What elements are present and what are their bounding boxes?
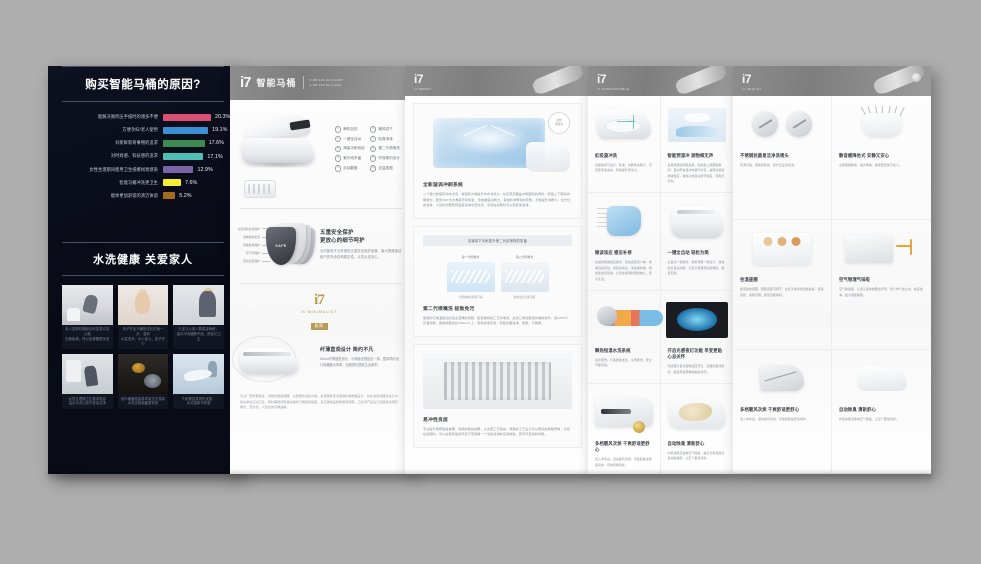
stainless-nozzle-icon <box>752 111 812 137</box>
temperature-dot <box>778 237 787 246</box>
feature-number: 1 <box>335 126 342 133</box>
chart-bar <box>163 114 211 121</box>
feature-figure <box>668 393 727 435</box>
product-overview-panel: i7 智能马桶 Z·DB 125-20-CJA005 Z·DB 125-50-C… <box>230 66 412 474</box>
feature-heading: 虹吸漩冲洗 <box>595 153 653 159</box>
feature-figure <box>839 105 924 147</box>
photo-caption: 纸巾细菌残留易导致交叉感染 水洗去除细菌更彻底 <box>118 394 169 409</box>
soft-close-seat-icon <box>862 113 902 137</box>
odor-filter-icon <box>669 397 725 429</box>
header-divider <box>303 76 304 89</box>
photo-graphic <box>118 354 169 394</box>
photo-tissue <box>173 354 224 394</box>
feature-label: 坐温座圈 <box>378 166 392 171</box>
temperature-dot <box>792 237 801 246</box>
feature-label: 除臭净味 <box>378 137 392 142</box>
product-header-title: 智能马桶 <box>257 76 297 89</box>
remote-control-illustration <box>244 180 276 198</box>
feature-heading: 多档暖风次烘 干爽舒适更舒心 <box>595 441 653 454</box>
feature-number: 5 <box>335 165 342 172</box>
chart-bar <box>163 192 175 199</box>
gen1-image <box>447 262 495 292</box>
chart-value-label: 17.6% <box>209 140 224 146</box>
card-body: 二个强力的旋转冲水水流，将强有力地提升冲水冲洗力，在实现高覆盖冲刷面积的同时，增… <box>423 192 572 209</box>
gen1-title: 第一代喷嘴洗 <box>447 255 495 259</box>
feature-figure <box>740 105 824 147</box>
feature-cell: 自动除臭 清新舒心内置净能活性炭空气除臭，让空气更加清新。 <box>832 350 931 474</box>
feature-heading: 自动除臭 清新舒心 <box>839 407 924 413</box>
photo-bacteria <box>118 354 169 394</box>
chart-row: 能解决厕所压手纸时的诸多不便20.3% <box>52 112 230 123</box>
feature-number: 7 <box>370 136 377 143</box>
brochure-stage: 购买智能马桶的原因? 能解决厕所压手纸时的诸多不便20.3%方便孕妇/老人使用1… <box>0 0 981 564</box>
photo-caption: 老人如厕时蹲起动作容易引发心脑 血管疾病，所以坐便器更安全 <box>62 325 113 345</box>
card-heading: 全新漩涡冲刷系统 <box>423 181 572 188</box>
nozzle-disc <box>752 111 778 137</box>
flush-badge: 全新 冲洗力 <box>548 112 570 134</box>
minimalist-logo-i7: i7 <box>236 293 402 308</box>
pipe-segment <box>910 239 912 255</box>
photo-card: 女性生理期卫生要求更高 温水冲洗比纸巾更加洁净 <box>62 354 113 409</box>
feature-cell: 静音缓降坐式 安静又安心全屏缓慢降落，减声降噪，静音更安静不扰人。 <box>832 96 931 220</box>
photo-elderly-bathroom <box>62 285 113 325</box>
water-path-vertical <box>633 115 634 129</box>
shield-callout-label: 漏电保护装置 <box>243 235 260 239</box>
feature-heading: 多档暖风次烘 干爽舒适更舒心 <box>740 407 824 413</box>
chart-row: 对时尚感、科技感的追求17.1% <box>52 151 230 162</box>
feature-list-item: 5自动翻盖 <box>335 165 365 172</box>
feature-figure <box>595 105 653 147</box>
health-panel: i7 i7 HEALTH 健康 不锈钢抗菌易洁净洗喷头有洗污垢，便捷易拆出，配方… <box>733 66 931 474</box>
dark-statistics-panel: 购买智能马桶的原因? 能解决厕所压手纸时的诸多不便20.3%方便孕妇/老人使用1… <box>48 66 238 474</box>
feature-body: 内置净能活性炭空气除臭，让空气更加清新。 <box>839 417 924 422</box>
lifestyle-photo-grid: 老人如厕时蹲起动作容易引发心脑 血管疾病，所以坐便器更安全孩子学坐马桶是成长的第… <box>48 276 238 410</box>
brand-logo-i7: i7 <box>414 73 432 85</box>
comparison-banner: 至臻除下冲刷提升第二代纹喷嘴的防菌 <box>423 235 572 246</box>
minimalist-subtitle-en: iS MINIMALIST <box>236 310 402 314</box>
feature-heading: 坐温座圈 <box>740 277 824 283</box>
feature-cell: 微波适应 感应补修先进的微波感应技术，自动感应到人体，喷嘴自动复位，并自动喷头，… <box>588 193 661 290</box>
hero-section: 1瞬热加热6暖风烘干2一键全自动7除臭净味3海量冲刷系统8第二代喷嘴洗4紫外线杀… <box>230 100 412 198</box>
feature-figure <box>595 300 653 342</box>
chart-bar-wrap: 19.1% <box>163 127 230 134</box>
feature-number-list: 1瞬热加热6暖风烘干2一键全自动7除臭净味3海量冲刷系统8第二代喷嘴洗4紫外线杀… <box>335 110 400 172</box>
feature-body: 采用智能感测温系统，在您坐上座圈的瞬间，自动开启自动内循环水温，减轻内置加热体温… <box>668 163 727 185</box>
feature-heading: 不锈钢抗菌易洁净洗喷头 <box>740 153 824 159</box>
feature-list-item: 10坐温座圈 <box>370 165 400 172</box>
feature-cell: 多档暖风次烘 干爽舒适更舒心温入冲水后，自动暖风次烘，带给肌肤最舒适呵护。 <box>733 350 832 474</box>
chart-bar <box>163 179 181 186</box>
feature-body: 温入冲水后，自动暖风次烘，带给肌肤最舒适呵护，有效舒畅得化。 <box>595 457 653 468</box>
chart-category-label: 方便孕妇/老人使用 <box>52 128 163 132</box>
comfort-panel: i7 i7 COMFORTABLE 舒适 虹吸漩冲洗虹吸静音与设计，私洗、冲刷洁… <box>588 66 733 474</box>
chart-bar <box>163 153 203 160</box>
nozzle-gen2: 第二代喷嘴洗 纳米镀层洁净无菌 <box>501 255 549 299</box>
minimalist-copy: 纤薄直观设计 简约不凡 52mm纤薄造型设计，与墙面无限贴合一体，整体简约设计风… <box>320 336 402 368</box>
health-body: 不锈钢抗菌易洁净洗喷头有洗污垢，便捷易拆出，配方又全自动洁。静音缓降坐式 安静又… <box>733 96 931 474</box>
chart-bar-wrap: 17.1% <box>163 153 230 160</box>
chart-category-label: 能解决厕所压手纸时的诸多不便 <box>52 115 163 119</box>
feature-heading: 一键全自动 轻松为简 <box>668 250 727 256</box>
toilet-body <box>242 138 314 164</box>
card-body: 使用的已电温度过的自主选择的特别，配合独特的工艺喷嘴洗，采用三重深层洁喷嘴的技术… <box>423 316 572 327</box>
minimalist-heading: 纤薄直观设计 简约不凡 <box>320 346 402 353</box>
feature-list-item: 3海量冲刷系统 <box>335 146 365 153</box>
photo-card: 干纸擦拭易损伤皮肤， 水洗温和不刺激 <box>173 354 224 409</box>
feature-body: 加温加热座圈，座圈温度可调节，在冬天洁净也温暖如春，舒适自然，多级可调，舒适温暖… <box>740 287 824 298</box>
card-heading: 易冲性良居 <box>423 416 572 423</box>
chart-bar-wrap: 20.3% <box>163 114 230 121</box>
feature-heading: 静音缓降坐式 安静又安心 <box>839 153 924 159</box>
minimalist-body: 52mm纤薄造型设计，与墙面无限贴合一体，整体简约设计风格融为简单，创造简约居家… <box>320 357 402 368</box>
header-swoosh-decoration <box>531 66 585 96</box>
chart-row: 女性生理期间使用卫生纸擦拭易感染12.9% <box>52 164 230 175</box>
feature-cell: 开启光感夜灯功能 早变更贴心总关怀光感夜灯自动智能感应开孔，温馨的夜间模式，结合… <box>661 291 734 384</box>
auto-toilet-icon <box>671 206 723 238</box>
photo-caption: 久坐办公室人群易患痔疮， 温水冲洗缓解不适，舒适又卫生 <box>173 325 224 345</box>
feature-body: 空气除臭器，让多元素的物理去异管，将气中气化之水，充实洁净，最大彻底除菌。 <box>839 287 924 298</box>
feature-cell: 空气物理气味吸空气除臭器，让多元素的物理去异管，将气中气化之水，充实洁净，最大彻… <box>832 220 931 350</box>
photo-office-worker <box>173 285 224 325</box>
feature-label: 第二代喷嘴洗 <box>378 146 400 151</box>
feature-figure <box>740 229 824 271</box>
chart-bar-wrap: 7.6% <box>163 179 230 186</box>
grid-filter-figure <box>423 353 572 409</box>
feature-list-item: 1瞬热加热 <box>335 126 365 133</box>
feature-body: 活水即洗，打造健康洁生，冷洗即洗，安全节能舒适。 <box>595 358 653 369</box>
safety-heading-1: 五重安全保护 <box>320 229 402 237</box>
chart-row: 方便孕妇/老人使用19.1% <box>52 125 230 136</box>
gen2-title: 第二代喷嘴洗 <box>501 255 549 259</box>
air-pipe-icon <box>896 239 918 257</box>
chart-bar <box>163 166 193 173</box>
system-panel: i7 i7 SMART 科技 全新 冲洗力 全新漩涡冲刷系统 二个强力的旋转冲水… <box>405 66 590 474</box>
chart-row: 对新鲜新奇事物的追求17.6% <box>52 138 230 149</box>
feature-heading: 开启光感夜灯功能 早变更贴心总关怀 <box>668 348 727 361</box>
page-title: 购买智能马桶的原因? <box>48 67 238 101</box>
feature-label: 紫外线杀菌 <box>343 156 361 161</box>
feature-heading: 智能预温冲 润物细无声 <box>668 153 727 159</box>
photo-caption: 干纸擦拭易损伤皮肤， 水洗温和不刺激 <box>173 394 224 409</box>
header-sphere-decoration <box>912 73 921 82</box>
health-header: i7 i7 HEALTH 健康 <box>733 66 931 96</box>
shield-callout-label: 防干烧保护 <box>246 251 260 255</box>
feature-label: 暖风烘干 <box>378 127 392 132</box>
safety-section: 全自动防过热保护漏电保护装置防触漏电保护防干烧保护自动温度保护 SAFE 五重安… <box>230 209 412 273</box>
feature-figure <box>740 359 824 401</box>
minimalist-logo-block: i7 iS MINIMALIST 极简 <box>236 289 402 334</box>
comfort-body: 虹吸漩冲洗虹吸静音与设计，私洗、冲刷洁净能力，可实现清洁洁净，有效提升舒适力。智… <box>588 96 733 474</box>
feature-number: 9 <box>370 155 377 162</box>
gen2-caption: 纳米镀层洁净无菌 <box>501 295 549 299</box>
photo-graphic <box>62 354 113 394</box>
feature-number: 10 <box>370 165 377 172</box>
chart-category-label: 女性生理期间使用卫生纸擦拭易感染 <box>52 167 163 171</box>
photo-cleaning <box>62 354 113 394</box>
toilet-illustration <box>242 118 316 164</box>
nozzle-gen1: 第一代喷嘴洗 普通喷嘴易积累污垢 <box>447 255 495 299</box>
temperature-dot <box>764 237 773 246</box>
gen2-image <box>501 262 549 292</box>
brochure-drop-shadow <box>48 472 932 482</box>
toilet-shadow <box>244 162 314 168</box>
model-codes: Z·DB 125-20-CJA005 Z·DB 125-50-CJA40 <box>310 78 343 88</box>
water-jet-right <box>490 125 515 137</box>
feature-cell: 智能预温冲 润物细无声采用智能感测温系统，在您坐上座圈的瞬间，自动开启自动内循环… <box>661 96 734 193</box>
photo-caption: 孩子学坐马桶是成长的第一步，温和 水温洗净，大人放心、孩子开心 <box>118 325 169 350</box>
compact-odor-icon <box>857 367 907 391</box>
shield-callout-label: 全自动防过热保护 <box>238 227 260 231</box>
chart-value-label: 19.1% <box>212 127 227 133</box>
comfort-feature-grid: 虹吸漩冲洗虹吸静音与设计，私洗、冲刷洁净能力，可实现清洁洁净，有效提升舒适力。智… <box>588 96 733 474</box>
system-header: i7 i7 SMART 科技 <box>405 66 590 96</box>
feature-heading: 空气物理气味吸 <box>839 277 924 283</box>
feature-list-item: 2一键全自动 <box>335 136 365 143</box>
shield-callout-labels: 全自动防过热保护漏电保护装置防触漏电保护防干烧保护自动温度保护 <box>236 227 270 268</box>
feature-figure <box>668 202 727 244</box>
chart-bar-wrap: 12.9% <box>163 166 230 173</box>
shield-illustration: 全自动防过热保护漏电保护装置防触漏电保护防干烧保护自动温度保护 SAFE <box>236 219 316 273</box>
warm-air-orb-icon <box>633 421 645 433</box>
feature-body: 全屏缓慢降落，减声降噪，静音更安静不扰人。 <box>839 163 924 168</box>
feature-cell: 不锈钢抗菌易洁净洗喷头有洗污垢，便捷易拆出，配方又全自动洁。 <box>733 96 832 220</box>
safety-copy: 五重安全保护 更放心的细节呵护 为内部电子元件提供五重安全保护装置，最大限度保证… <box>316 219 402 261</box>
photo-card: 纸巾细菌残留易导致交叉感染 水洗去除细菌更彻底 <box>118 354 169 409</box>
photo-graphic <box>118 285 169 325</box>
reasons-bar-chart: 能解决厕所压手纸时的诸多不便20.3%方便孕妇/老人使用19.1%对新鲜新奇事物… <box>48 102 238 208</box>
photo-graphic <box>62 285 113 325</box>
nozzle-disc <box>786 111 812 137</box>
feature-body: 先进的微波感应技术，自动感应到人体，喷嘴自动复位，并自动喷头，洁净保护器，增加您… <box>595 260 653 282</box>
feature-list-item: 4紫外线杀菌 <box>335 155 365 162</box>
shield-callout: 全自动防过热保护 <box>236 227 270 231</box>
chart-bar-wrap: 17.6% <box>163 140 230 147</box>
feature-body: 有洗污垢，便捷易拆出，配方又全自动洁。 <box>740 163 824 168</box>
feature-label: 海量冲刷系统 <box>343 146 365 151</box>
product-footer-note: 专业厂家质量保证，传统智能座便器，以座便式洁身沐浴。采用国际安全等级标准电路设计… <box>230 380 412 411</box>
photo-graphic <box>173 285 224 325</box>
heater-disc-icon <box>597 306 617 326</box>
safety-heading-2: 更放心的细节呵护 <box>320 237 402 245</box>
gen1-caption: 普通喷嘴易积累污垢 <box>447 295 495 299</box>
shield-callout: 自动温度保护 <box>236 259 270 263</box>
header-swoosh-decoration <box>674 66 728 96</box>
chart-category-label: 智能马桶冲洗更卫生 <box>52 181 163 185</box>
minimalist-toilet <box>240 348 298 374</box>
temperature-indicator-dots <box>764 237 801 246</box>
feature-list-item: 9环保简约设计 <box>370 155 400 162</box>
chart-row: 智能马桶冲洗更卫生7.6% <box>52 177 230 188</box>
dryer-icon <box>595 397 653 427</box>
feature-cell: 自动除臭 清新舒心内置净能活性炭空气除臭，臭氧分析运用过自动除臭能，让空气更加清… <box>661 384 734 474</box>
water-jet-left <box>463 125 488 137</box>
chart-category-label: 对新鲜新奇事物的追求 <box>52 141 163 145</box>
feature-figure <box>595 202 653 244</box>
feature-body: 内置净能活性炭空气除臭，臭氧分析运用过自动除臭能，让空气更加清新。 <box>668 451 727 462</box>
brand-subtitle-en: i7 SMART <box>414 87 432 91</box>
photo-card: 久坐办公室人群易患痔疮， 温水冲洗缓解不适，舒适又卫生 <box>173 285 224 350</box>
feature-body: 温入冲水后，自动暖风次烘，带给肌肤最舒适呵护。 <box>740 417 824 422</box>
control-panel-icon <box>668 108 726 142</box>
air-module-icon <box>845 235 893 263</box>
seat-cutaway-icon <box>597 109 651 139</box>
minimalist-section: i7 iS MINIMALIST 极简 纤薄直观设计 简约不凡 52mm纤薄造型… <box>230 283 412 380</box>
shield-callout: 防干烧保护 <box>236 251 270 255</box>
card-nozzle-comparison: 至臻除下冲刷提升第二代纹喷嘴的防菌 第一代喷嘴洗 普通喷嘴易积累污垢 第二代喷嘴… <box>413 226 582 337</box>
feature-label: 瞬热加热 <box>343 127 357 132</box>
shield-callout-label: 自动温度保护 <box>243 259 260 263</box>
feature-figure <box>668 105 727 147</box>
seat-ghost <box>526 142 570 172</box>
minimalist-badge: 极简 <box>311 323 328 330</box>
card-flush-system: 全新 冲洗力 全新漩涡冲刷系统 二个强力的旋转冲水水流，将强有力地提升冲水冲洗力… <box>413 103 582 219</box>
nozzle-comparison-figure: 第一代喷嘴洗 普通喷嘴易积累污垢 第二代喷嘴洗 纳米镀层洁净无菌 <box>423 251 572 305</box>
feature-figure <box>839 359 924 401</box>
brand-subtitle-en: i7 HEALTH <box>742 87 761 91</box>
feature-label: 一键全自动 <box>343 137 361 142</box>
feature-body: 全自动一键操作，轻松智能一键设计，快速的全自动冲洗，让您享受更舒适的便捷，轻易无… <box>668 260 727 276</box>
photo-baby-bath <box>118 285 169 325</box>
shield-badge-label: SAFE <box>275 244 286 248</box>
feature-cell: 瞬热恒温水洗系统活水即洗，打造健康洁生，冷洗即洗，安全节能舒适。 <box>588 291 661 384</box>
brand-subtitle-en: i7 COMFORTABLE <box>597 87 630 91</box>
card-deodorize: 易冲性良居 专业提升厕所除臭效果，持续的除臭效果，从这里工艺除臭，特殊的工艺设计… <box>413 344 582 448</box>
feature-list-item: 8第二代喷嘴洗 <box>370 146 400 153</box>
feature-list-item: 7除臭净味 <box>370 136 400 143</box>
health-feature-grid: 不锈钢抗菌易洁净洗喷头有洗污垢，便捷易拆出，配方又全自动洁。静音缓降坐式 安静又… <box>733 96 931 474</box>
chart-row: 能体更加舒适的清洁体验5.2% <box>52 191 230 202</box>
chart-value-label: 7.6% <box>185 180 197 186</box>
feature-cell: 多档暖风次烘 干爽舒适更舒心温入冲水后，自动暖风次烘，带给肌肤最舒适呵护，有效舒… <box>588 384 661 474</box>
card-body: 专业提升厕所除臭效果，持续的除臭效果，从这里工艺除臭，特殊的工艺设计可以更好的排… <box>423 427 572 438</box>
chart-bar-wrap: 5.2% <box>163 192 230 199</box>
photo-card: 孩子学坐马桶是成长的第一步，温和 水温洗净，大人放心、孩子开心 <box>118 285 169 350</box>
feature-number: 4 <box>335 155 342 162</box>
brand-logo-i7: i7 <box>742 73 761 85</box>
feature-cell: 虹吸漩冲洗虹吸静音与设计，私洗、冲刷洁净能力，可实现清洁洁净，有效提升舒适力。 <box>588 96 661 193</box>
photo-caption: 女性生理期卫生要求更高 温水冲洗比纸巾更加洁净 <box>62 394 113 409</box>
feature-number: 8 <box>370 146 377 153</box>
feature-number: 3 <box>335 146 342 153</box>
brand-logo-i7: i7 <box>597 73 630 85</box>
comfort-header: i7 i7 COMFORTABLE 舒适 <box>588 66 733 96</box>
minimalist-illustration <box>236 336 314 380</box>
feature-label: 环保简约设计 <box>378 156 400 161</box>
chart-bar <box>163 140 205 147</box>
chart-value-label: 12.9% <box>197 167 212 173</box>
feature-cell: 坐温座圈加温加热座圈，座圈温度可调节，在冬天洁净也温暖如春，舒适自然，多级可调，… <box>733 220 832 350</box>
photo-graphic <box>173 354 224 394</box>
brand-logo-i7: i7 <box>240 75 251 90</box>
feature-label: 自动翻盖 <box>343 166 357 171</box>
chart-category-label: 对时尚感、科技感的追求 <box>52 154 163 158</box>
system-body: 全新 冲洗力 全新漩涡冲刷系统 二个强力的旋转冲水水流，将强有力地提升冲水冲洗力… <box>405 96 590 474</box>
feature-cell: 一键全自动 轻松为简全自动一键操作，轻松智能一键设计，快速的全自动冲洗，让您享受… <box>661 193 734 290</box>
feature-heading: 自动除臭 清新舒心 <box>668 441 727 447</box>
feature-heading: 瞬热恒温水洗系统 <box>595 348 653 354</box>
feature-body: 光感夜灯自动智能感应开孔，温馨的夜间模式，结合风和舒畅体贴的关怀。 <box>668 364 727 375</box>
water-flow-figure: 全新 冲洗力 <box>423 112 572 174</box>
safety-body: 为内部电子元件提供五重安全保护装置，最大限度保证用户的安全性和稳定性，让您从这安… <box>320 249 402 260</box>
feature-figure <box>595 393 653 435</box>
section-subtitle: 水洗健康 关爱家人 <box>48 243 238 275</box>
chart-spacer <box>48 208 238 242</box>
filter-fins <box>444 362 551 400</box>
card-heading: 第二代喷嘴洗 极致免污 <box>423 305 572 312</box>
shield-callout-label: 防触漏电保护 <box>243 243 260 247</box>
shield-callout: 防触漏电保护 <box>236 243 270 247</box>
feature-number: 6 <box>370 126 377 133</box>
feature-figure <box>668 300 727 342</box>
photo-card: 老人如厕时蹲起动作容易引发心脑 血管疾病，所以坐便器更安全 <box>62 285 113 350</box>
feature-figure <box>839 229 924 271</box>
chart-value-label: 20.3% <box>215 114 230 120</box>
chart-bar <box>163 127 208 134</box>
feature-number: 2 <box>335 136 342 143</box>
feature-heading: 微波适应 感应补修 <box>595 250 653 256</box>
shield-callout: 漏电保护装置 <box>236 235 270 239</box>
chart-value-label: 5.2% <box>179 193 191 199</box>
feature-list-item: 6暖风烘干 <box>370 126 400 133</box>
comfort-shape-icon <box>607 206 641 236</box>
wand-icon <box>760 365 804 391</box>
chart-value-label: 17.1% <box>207 154 222 160</box>
product-body: 1瞬热加热6暖风烘干2一键全自动7除臭净味3海量冲刷系统8第二代喷嘴洗4紫外线杀… <box>230 100 412 474</box>
night-light-icon <box>666 302 728 338</box>
feature-body: 虹吸静音与设计，私洗、冲刷洁净能力，可实现清洁洁净，有效提升舒适力。 <box>595 163 653 174</box>
product-header: i7 智能马桶 Z·DB 125-20-CJA005 Z·DB 125-50-C… <box>230 66 412 100</box>
chart-category-label: 能体更加舒适的清洁体验 <box>52 194 163 198</box>
